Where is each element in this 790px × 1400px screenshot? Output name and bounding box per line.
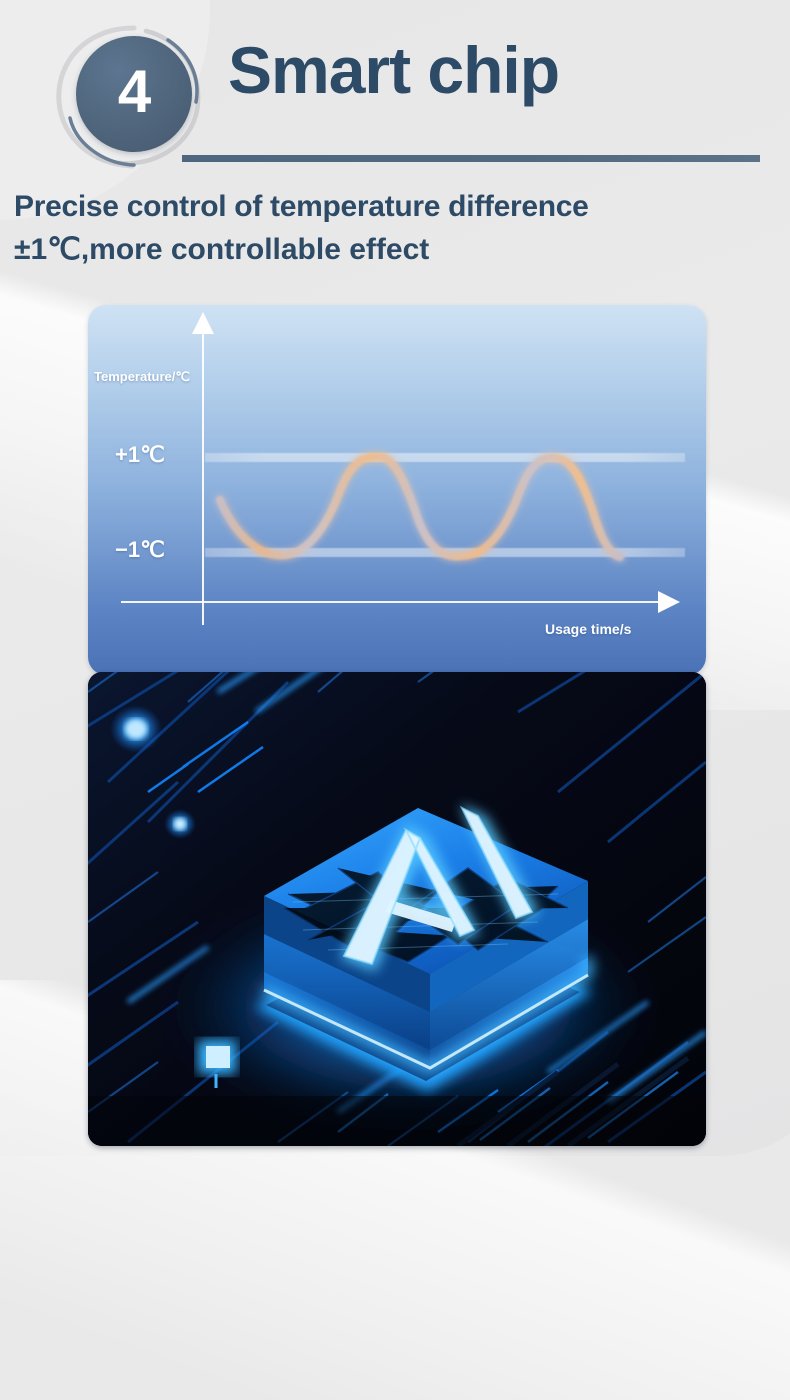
x-axis-arrow-icon xyxy=(658,591,680,613)
header-section: 4 Smart chip Precise control of temperat… xyxy=(0,0,790,300)
x-axis-line xyxy=(121,601,666,603)
ai-chip-illustration xyxy=(88,672,706,1146)
title-underline xyxy=(182,155,760,162)
chart-plot-area: Temperature/℃ Usage time/s +1℃ −1℃ xyxy=(88,305,706,675)
badge-number: 4 xyxy=(118,62,150,122)
temperature-chart-panel: Temperature/℃ Usage time/s +1℃ −1℃ xyxy=(88,305,706,675)
y-tick-upper: +1℃ xyxy=(115,442,165,468)
subtitle-block: Precise control of temperature differenc… xyxy=(14,186,784,271)
x-axis-label: Usage time/s xyxy=(545,621,631,637)
y-axis-arrow-icon xyxy=(192,312,214,334)
page-title: Smart chip xyxy=(228,36,559,105)
y-tick-lower: −1℃ xyxy=(115,537,165,563)
subtitle-line-1: Precise control of temperature differenc… xyxy=(14,190,589,223)
subtitle-line-2: ±1℃,more controllable effect xyxy=(14,229,784,272)
badge-circle: 4 xyxy=(76,36,192,152)
y-axis-label: Temperature/℃ xyxy=(94,369,190,385)
step-badge: 4 xyxy=(46,22,216,172)
temperature-wave-curve xyxy=(88,305,706,675)
y-axis-line xyxy=(202,330,204,625)
ai-chip-photo xyxy=(88,672,706,1146)
